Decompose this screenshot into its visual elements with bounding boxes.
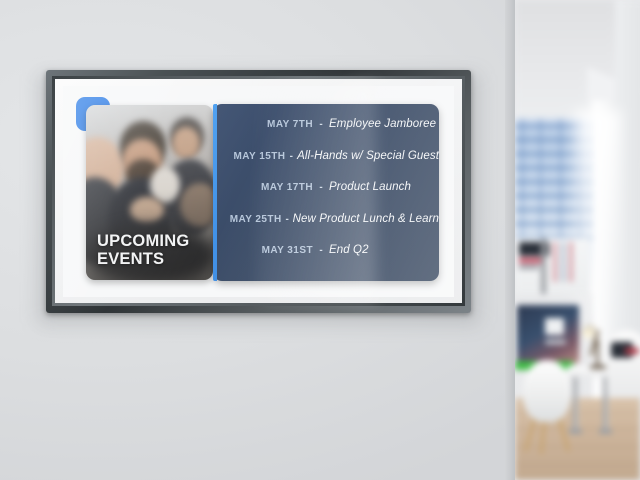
chair-back-right [607,330,640,398]
white-chair [523,360,571,422]
desk-lamp-base [590,365,606,369]
event-date: MAY 31ST [213,245,313,256]
event-date: MAY 15TH [213,151,285,162]
event-name: Product Launch [329,181,411,193]
events-panel-accent-stripe [213,104,217,281]
event-date: MAY 17TH [213,182,313,193]
event-separator: - [313,119,329,130]
photo-caption-line2: EVENTS [97,251,207,269]
event-name: End Q2 [329,244,369,256]
desk-lamp-glow [583,329,594,338]
event-name: Employee Jamboree [329,118,436,130]
monitor-card [545,318,564,335]
event-separator: - [313,182,329,193]
event-separator: - [282,214,293,225]
event-name: All-Hands w/ Special Guest [297,150,439,162]
display-bezel: UPCOMING EVENTS MAY 7TH-Employee Jambore… [46,70,471,313]
photo-card: UPCOMING EVENTS [86,105,213,280]
event-separator: - [285,151,297,162]
wall-corner-edge [505,0,515,480]
event-separator: - [313,245,329,256]
photo-caption: UPCOMING EVENTS [97,233,207,268]
events-panel: MAY 7TH-Employee JamboreeMAY 15TH-All-Ha… [213,104,439,281]
event-row: MAY 17TH-Product Launch [213,181,439,213]
room-opening [515,0,640,480]
wall-mounted-display[interactable]: UPCOMING EVENTS MAY 7TH-Employee Jambore… [46,70,471,313]
phone-accent [625,348,639,354]
office-scene: UPCOMING EVENTS MAY 7TH-Employee Jambore… [0,0,640,480]
event-date: MAY 25TH [213,214,282,225]
wall-board [515,238,589,294]
event-name: New Product Lunch & Learn [293,213,439,225]
desk-lamp-pole [596,340,599,368]
event-row: MAY 31ST-End Q2 [213,244,439,276]
event-date: MAY 7TH [213,119,313,130]
event-row: MAY 25TH-New Product Lunch & Learn [213,213,439,245]
monitor-bar [545,340,566,344]
event-row: MAY 7TH-Employee Jamboree [213,118,439,150]
event-row: MAY 15TH-All-Hands w/ Special Guest [213,150,439,182]
slide-canvas: UPCOMING EVENTS MAY 7TH-Employee Jambore… [63,86,454,297]
photo-caption-line1: UPCOMING [97,233,207,251]
events-list: MAY 7TH-Employee JamboreeMAY 15TH-All-Ha… [213,118,439,276]
